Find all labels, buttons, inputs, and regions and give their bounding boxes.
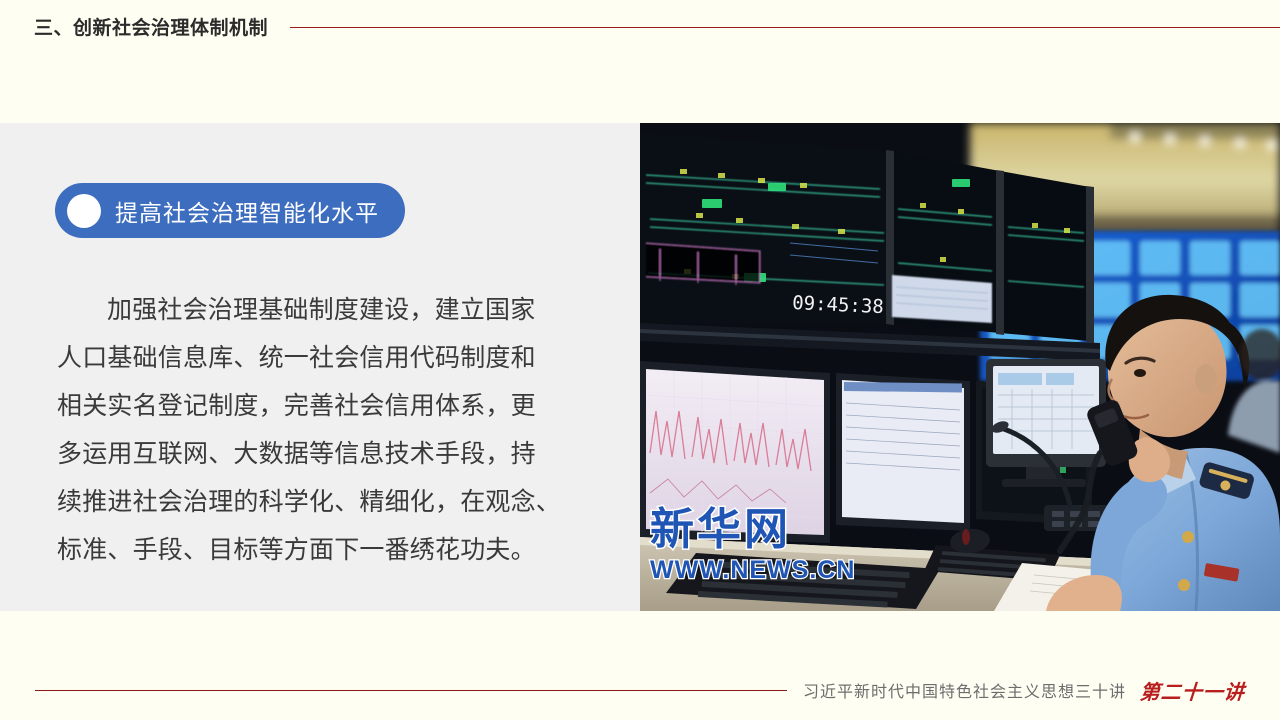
paragraph-line: 人口基础信息库、统一社会信用代码制度和 bbox=[57, 334, 587, 382]
paragraph-line: 标准、手段、目标等方面下一番绣花功夫。 bbox=[57, 526, 587, 574]
text-column: 提高社会治理智能化水平 加强社会治理基础制度建设，建立国家 人口基础信息库、统一… bbox=[0, 123, 640, 611]
body-paragraph: 加强社会治理基础制度建设，建立国家 人口基础信息库、统一社会信用代码制度和 相关… bbox=[57, 286, 587, 574]
footer-lecture-number: 第二十一讲 bbox=[1139, 676, 1246, 705]
control-room-photo-illustration: 09:45:38 bbox=[640, 123, 1280, 611]
slide-header: 三、创新社会治理体制机制 bbox=[0, 0, 1280, 52]
photo-control-room: 09:45:38 bbox=[640, 123, 1280, 611]
paragraph-line: 多运用互联网、大数据等信息技术手段，持 bbox=[57, 430, 587, 478]
section-badge[interactable]: 提高社会治理智能化水平 bbox=[55, 183, 405, 238]
footer-divider-rule bbox=[35, 690, 787, 691]
paragraph-line: 加强社会治理基础制度建设，建立国家 bbox=[57, 286, 587, 334]
footer-series-title: 习近平新时代中国特色社会主义思想三十讲 bbox=[803, 678, 1126, 702]
bullet-circle-icon bbox=[67, 194, 101, 228]
slide-footer: 习近平新时代中国特色社会主义思想三十讲 第二十一讲 bbox=[0, 660, 1280, 720]
paragraph-line: 相关实名登记制度，完善社会信用体系，更 bbox=[57, 382, 587, 430]
svg-text:09:45:38: 09:45:38 bbox=[792, 292, 884, 318]
header-divider-rule bbox=[290, 27, 1280, 28]
section-badge-label: 提高社会治理智能化水平 bbox=[115, 194, 379, 228]
content-panel: 提高社会治理智能化水平 加强社会治理基础制度建设，建立国家 人口基础信息库、统一… bbox=[0, 123, 1280, 611]
paragraph-line: 续推进社会治理的科学化、精细化，在观念、 bbox=[57, 478, 587, 526]
page-title: 三、创新社会治理体制机制 bbox=[34, 13, 268, 40]
